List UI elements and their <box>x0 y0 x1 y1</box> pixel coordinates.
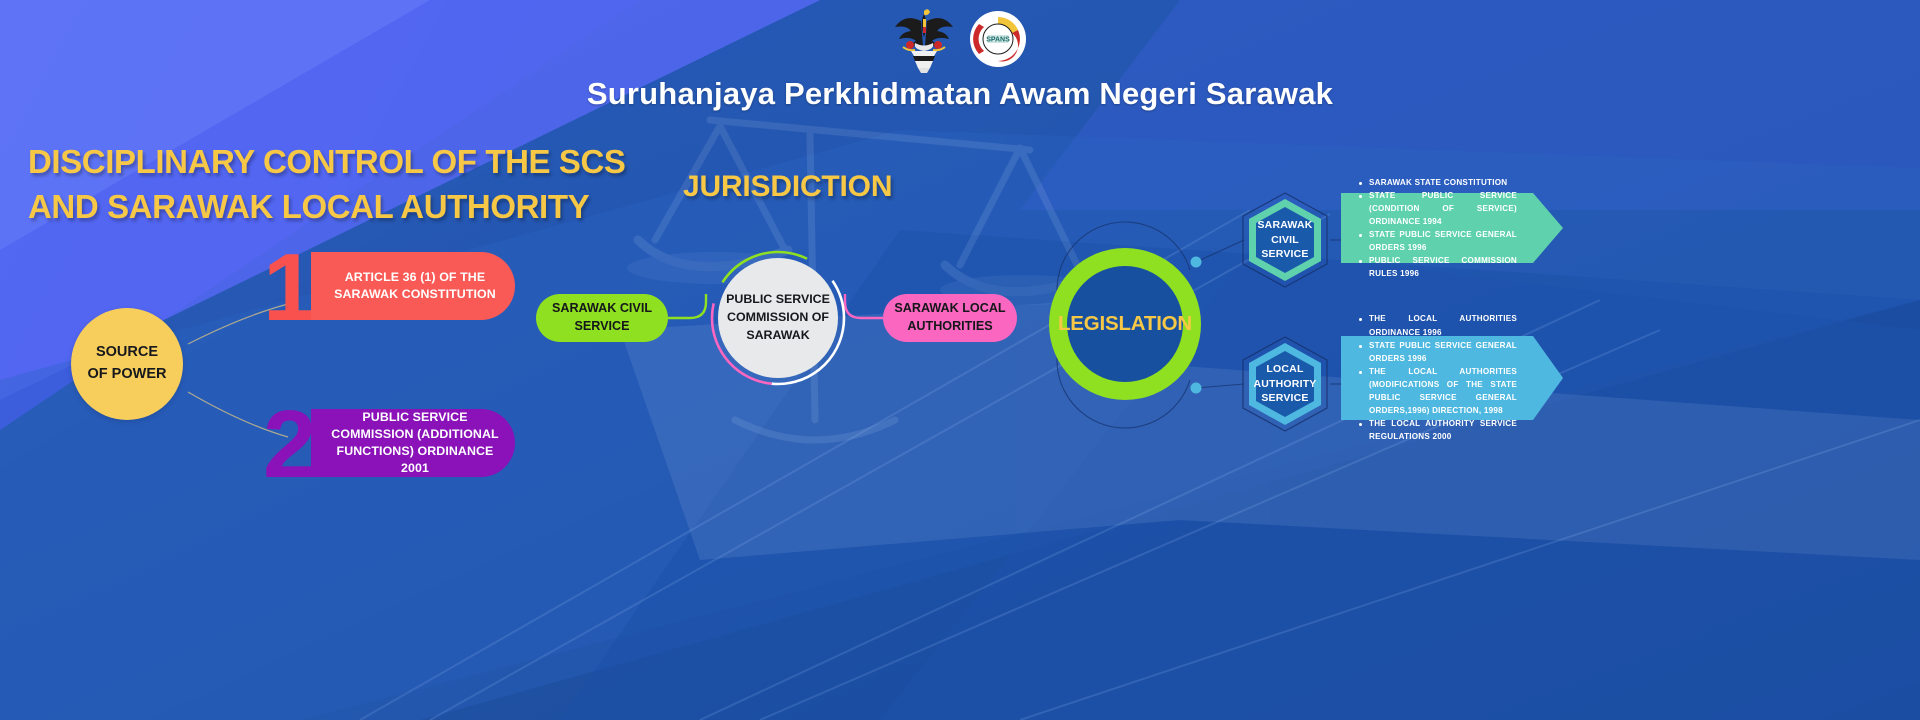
branch-hex-label-1: SARAWAK CIVIL SERVICE <box>1257 218 1312 263</box>
jurisdiction-hub-disc: PUBLIC SERVICE COMMISSION OF SARAWAK <box>718 258 838 378</box>
source-item-1-label: ARTICLE 36 (1) OF THE SARAWAK CONSTITUTI… <box>327 269 503 303</box>
page-header: SPANS Suruhanjaya Perkhidmatan Awam Nege… <box>0 0 1920 122</box>
branch-panel-1-item-2: STATE PUBLIC SERVICE (CONDITION OF SERVI… <box>1357 189 1517 228</box>
branch-panel-1-item-1: SARAWAK STATE CONSTITUTION <box>1357 176 1517 189</box>
source-item-1-body: ARTICLE 36 (1) OF THE SARAWAK CONSTITUTI… <box>311 252 515 320</box>
page-title: DISCIPLINARY CONTROL OF THE SCS AND SARA… <box>28 140 548 229</box>
branch-hex-label-1-line-1: SARAWAK <box>1257 218 1312 233</box>
source-of-power-line-1: SOURCE <box>96 342 158 364</box>
branch-hex-label-2-line-1: LOCAL <box>1253 362 1316 377</box>
jurisdiction-hub[interactable]: PUBLIC SERVICE COMMISSION OF SARAWAK <box>718 258 838 378</box>
legislation-node[interactable]: LEGISLATION <box>1049 248 1201 400</box>
branch-hex-label-1-line-2: CIVIL <box>1257 233 1312 248</box>
spans-logo: SPANS <box>969 10 1027 68</box>
source-item-2-label: PUBLIC SERVICE COMMISSION (ADDITIONAL FU… <box>327 409 503 477</box>
source-of-power-node[interactable]: SOURCE OF POWER <box>71 308 183 420</box>
page-title-line-1: DISCIPLINARY CONTROL OF THE SCS <box>28 140 548 185</box>
branch-hex-label-2: LOCAL AUTHORITY SERVICE <box>1253 362 1316 407</box>
branch-panel-2-item-1: THE LOCAL AUTHORITIES ORDINANCE 1996 <box>1357 312 1517 338</box>
jurisdiction-heading: JURISDICTION <box>683 170 892 204</box>
branch-panel-1-item-4: PUBLIC SERVICE COMMISSION RULES 1996 <box>1357 254 1517 280</box>
source-item-2-number: 2 <box>263 397 316 493</box>
jurisdiction-hub-label: PUBLIC SERVICE COMMISSION OF SARAWAK <box>718 291 838 345</box>
legislation-node-inner: LEGISLATION <box>1067 266 1183 382</box>
branch-hex-label-1-line-3: SERVICE <box>1257 247 1312 262</box>
branch-panel-sarawak-civil-service[interactable]: SARAWAK STATE CONSTITUTION STATE PUBLIC … <box>1341 193 1563 263</box>
branch-hex-sarawak-civil-service[interactable]: SARAWAK CIVIL SERVICE <box>1241 192 1329 288</box>
logo-group: SPANS <box>893 4 1027 74</box>
legislation-label: LEGISLATION <box>1058 312 1192 336</box>
page-title-line-2: AND SARAWAK LOCAL AUTHORITY <box>28 185 548 230</box>
svg-text:SPANS: SPANS <box>986 37 1010 44</box>
branch-panel-2-item-2: STATE PUBLIC SERVICE GENERAL ORDERS 1996 <box>1357 339 1517 365</box>
branch-hex-label-2-line-3: SERVICE <box>1253 391 1316 406</box>
branch-panel-2-item-3: THE LOCAL AUTHORITIES (MODIFICATIONS OF … <box>1357 365 1517 417</box>
jurisdiction-tag-sarawak-civil-service[interactable]: SARAWAK CIVIL SERVICE <box>536 294 668 342</box>
branch-panel-local-authority-service[interactable]: THE LOCAL AUTHORITIES ORDINANCE 1996 STA… <box>1341 336 1563 420</box>
site-title: Suruhanjaya Perkhidmatan Awam Negeri Sar… <box>587 76 1333 112</box>
sarawak-state-crest-logo <box>893 5 955 73</box>
source-item-2-body: PUBLIC SERVICE COMMISSION (ADDITIONAL FU… <box>311 409 515 477</box>
branch-hex-label-2-line-2: AUTHORITY <box>1253 377 1316 392</box>
jurisdiction-tag-sarawak-local-authorities[interactable]: SARAWAK LOCAL AUTHORITIES <box>883 294 1017 342</box>
branch-hex-local-authority-service[interactable]: LOCAL AUTHORITY SERVICE <box>1241 336 1329 432</box>
source-of-power-line-2: OF POWER <box>88 364 167 386</box>
source-item-1-number: 1 <box>263 240 316 336</box>
branch-panel-1-list: SARAWAK STATE CONSTITUTION STATE PUBLIC … <box>1357 176 1517 281</box>
infographic-canvas: SPANS Suruhanjaya Perkhidmatan Awam Nege… <box>0 0 1920 720</box>
branch-panel-1-item-3: STATE PUBLIC SERVICE GENERAL ORDERS 1996 <box>1357 228 1517 254</box>
branch-panel-2-item-4: THE LOCAL AUTHORITY SERVICE REGULATIONS … <box>1357 417 1517 443</box>
branch-panel-2-list: THE LOCAL AUTHORITIES ORDINANCE 1996 STA… <box>1357 312 1517 443</box>
